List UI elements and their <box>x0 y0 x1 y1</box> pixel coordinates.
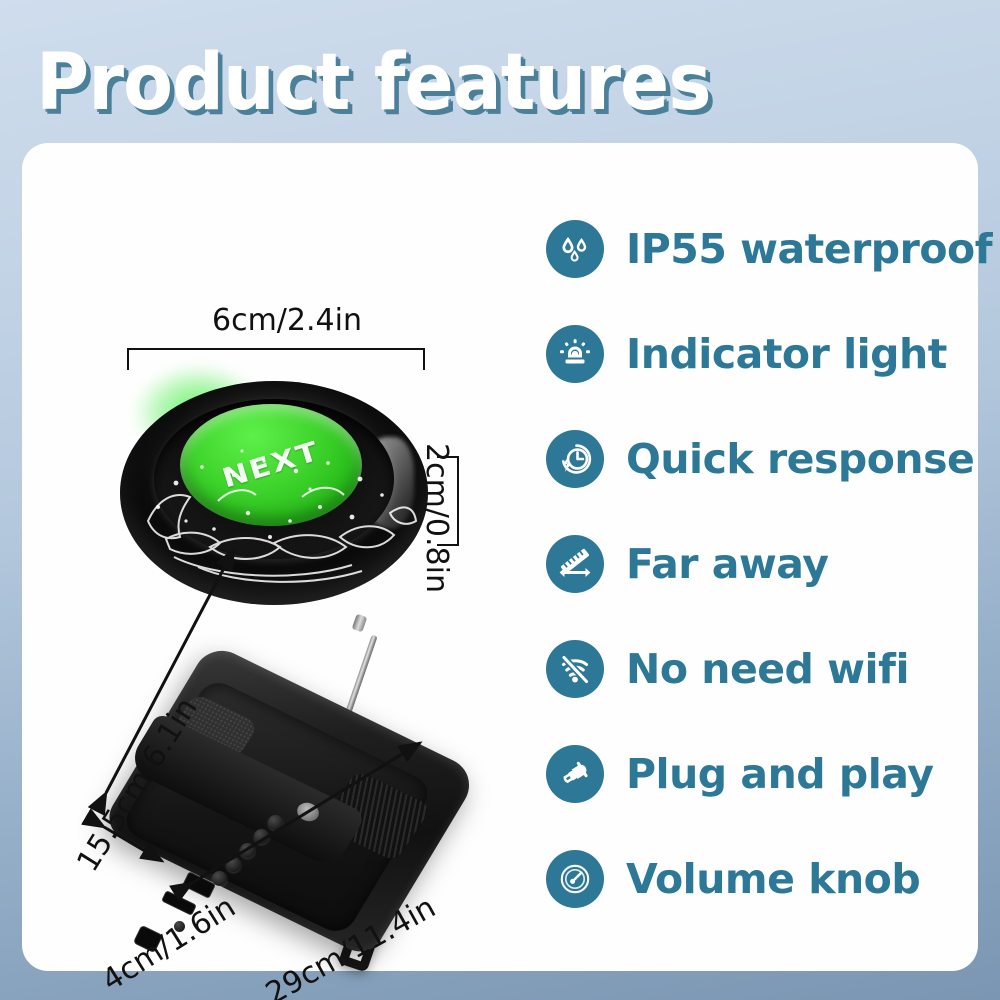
button-width-bracket <box>127 348 425 370</box>
feature-item-volume-knob[interactable]: Volume knob <box>546 826 966 931</box>
feature-label: Indicator light <box>626 330 947 378</box>
feature-item-quick-response[interactable]: Quick response <box>546 406 966 511</box>
control-button <box>268 815 283 830</box>
feature-label: IP55 waterproof <box>626 225 992 273</box>
plug-connect-icon <box>546 745 604 803</box>
feature-list: IP55 waterproof Indicator light <box>546 196 966 931</box>
ruler-distance-icon <box>546 535 604 593</box>
water-drops-icon <box>546 220 604 278</box>
page-title: Product features <box>36 44 711 122</box>
button-height-label: 2cm/0.8in <box>419 443 454 593</box>
control-button <box>240 843 255 858</box>
feature-item-plug-and-play[interactable]: Plug and play <box>546 721 966 826</box>
feature-label: Far away <box>626 540 828 588</box>
button-width-label: 6cm/2.4in <box>212 303 362 338</box>
button-cap-label: NEXT <box>219 436 324 495</box>
feature-item-no-need-wifi[interactable]: No need wifi <box>546 616 966 721</box>
feature-item-indicator-light[interactable]: Indicator light <box>546 301 966 406</box>
feature-label: Volume knob <box>626 855 920 903</box>
call-button-photo: NEXT <box>114 371 434 621</box>
button-green-cap: NEXT <box>180 404 362 526</box>
feature-label: Plug and play <box>626 750 933 798</box>
feature-label: No need wifi <box>626 645 909 693</box>
control-button <box>254 829 269 844</box>
feature-label: Quick response <box>626 435 974 483</box>
feature-item-far-away[interactable]: Far away <box>546 511 966 616</box>
wifi-off-icon <box>546 640 604 698</box>
indicator-light-icon <box>546 325 604 383</box>
control-button <box>226 857 241 872</box>
volume-dial-icon <box>546 850 604 908</box>
clock-bolt-icon <box>546 430 604 488</box>
feature-item-ip55-waterproof[interactable]: IP55 waterproof <box>546 196 966 301</box>
